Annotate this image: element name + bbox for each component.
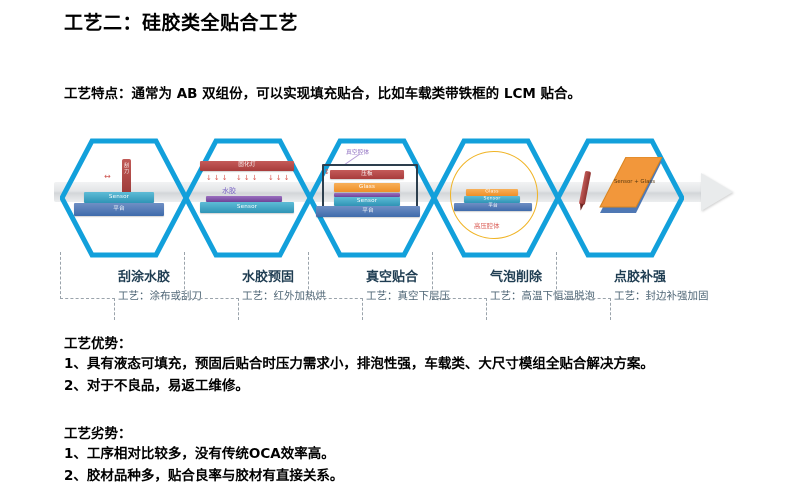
step-5-name: 点胶补强 xyxy=(614,266,666,285)
process-hexagon-1[interactable]: 刮刀 ↔ Sensor 平台 xyxy=(60,137,188,259)
layer-platform-label: 平台 xyxy=(74,207,164,213)
process-hexagon-3[interactable]: 真空腔体 压板 ↕ Glass Sensor 平台 xyxy=(308,137,436,259)
advantages-item-1: 1、具有液态可填充，预固后贴合时压力需求小，排泡性强，车载类、大尺寸模组全贴合解… xyxy=(64,355,654,375)
step-2-name: 水胶预固 xyxy=(242,266,294,285)
layer-platform: 平台 xyxy=(316,206,420,217)
layer-platform-label: 平台 xyxy=(454,205,532,210)
process-hexagon-2[interactable]: 固化灯 ↓↓↓ ↓↓↓ ↓↓↓ 水胶 Sensor xyxy=(184,137,312,259)
layer-platform: 平台 xyxy=(454,203,532,211)
step-1-name: 刮涂水胶 xyxy=(118,266,170,285)
step-bracket-stem xyxy=(114,298,115,320)
disadvantages-item-2: 2、胶材品种多，贴合良率与胶材有直接关系。 xyxy=(64,467,343,487)
hexagon-2-scene: 固化灯 ↓↓↓ ↓↓↓ ↓↓↓ 水胶 Sensor xyxy=(184,137,312,259)
scraper-tool-label: 刮刀 xyxy=(123,163,130,175)
process-step-2[interactable]: 水胶预固 工艺：红外加热烘 xyxy=(184,252,320,320)
layer-sensor-label: Sensor xyxy=(464,197,520,202)
step-5-sub: 工艺：封边补强加固 xyxy=(614,288,709,303)
step-bracket xyxy=(60,252,115,299)
layer-press-plate-label: 压板 xyxy=(330,172,404,178)
step-3-name: 真空贴合 xyxy=(366,266,418,285)
layer-sensor: Sensor xyxy=(200,202,294,213)
advantages-item-2: 2、对于不良品，易返工维修。 xyxy=(64,377,654,397)
high-pressure-chamber-annotation: 高压腔体 xyxy=(474,221,500,230)
hexagon-4-scene: Glass Sensor 平台 高压腔体 xyxy=(432,137,560,259)
motion-arrow-horizontal-icon: ↔ xyxy=(104,173,111,181)
process-step-3[interactable]: 真空贴合 工艺：真空下层压 xyxy=(308,252,444,320)
disadvantages-block: 工艺劣势： 1、工序相对比较多，没有传统OCA效率高。 2、胶材品种多，贴合良率… xyxy=(64,422,343,488)
layer-glass-label: Glass xyxy=(466,190,518,195)
layer-sensor-label: Sensor xyxy=(334,199,400,205)
layer-sensor: Sensor xyxy=(334,197,400,206)
advantages-heading: 工艺优势： xyxy=(64,332,654,352)
process-feature-line: 工艺特点：通常为 AB 双组份，可以实现填充贴合，比如车载类带铁框的 LCM 贴… xyxy=(64,82,581,102)
disadvantages-heading: 工艺劣势： xyxy=(64,422,343,442)
hexagon-5-scene: Sensor + Glass xyxy=(556,137,684,259)
step-bracket xyxy=(432,252,487,299)
layer-glass: Glass xyxy=(334,183,400,192)
ir-rays-icon-2: ↓↓↓ xyxy=(236,174,260,182)
hexagon-1-scene: 刮刀 ↔ Sensor 平台 xyxy=(60,137,188,259)
layer-press-plate: 压板 xyxy=(330,170,404,179)
process-hexagon-4[interactable]: Glass Sensor 平台 高压腔体 xyxy=(432,137,560,259)
layer-glass: Glass xyxy=(466,189,518,196)
layer-sensor-label: Sensor xyxy=(200,205,294,211)
step-bracket-stem xyxy=(238,298,239,320)
hexagon-3-scene: 真空腔体 压板 ↕ Glass Sensor 平台 xyxy=(308,137,436,259)
motion-arrow-vertical-icon: ↕ xyxy=(324,168,330,176)
step-bracket xyxy=(308,252,363,299)
layer-sensor: Sensor xyxy=(464,196,520,203)
step-bracket-stem xyxy=(362,298,363,320)
layer-sensor: Sensor xyxy=(84,192,154,203)
process-step-labels: 刮涂水胶 工艺：涂布或刮刀 水胶预固 工艺：红外加热烘 真空贴合 工艺：真空下层… xyxy=(46,252,746,324)
process-step-4[interactable]: 气泡削除 工艺：高温下恒温脱泡 xyxy=(432,252,568,320)
process-step-5[interactable]: 点胶补强 工艺：封边补强加固 xyxy=(556,252,692,320)
process-step-1[interactable]: 刮涂水胶 工艺：涂布或刮刀 xyxy=(60,252,196,320)
disadvantages-item-1: 1、工序相对比较多，没有传统OCA效率高。 xyxy=(64,445,343,465)
step-bracket xyxy=(556,252,611,299)
glue-annotation: 水胶 xyxy=(222,186,236,196)
layer-sensor-label: Sensor xyxy=(84,195,154,201)
flow-arrow-right-icon xyxy=(701,173,733,211)
step-bracket xyxy=(184,252,239,299)
layer-platform-label: 平台 xyxy=(316,209,420,215)
page-title: 工艺二：硅胶类全贴合工艺 xyxy=(64,8,298,35)
curing-lamp: 固化灯 xyxy=(200,161,294,171)
step-bracket-stem xyxy=(486,298,487,320)
step-bracket-stem xyxy=(610,298,611,320)
step-4-name: 气泡削除 xyxy=(490,266,542,285)
ir-rays-icon: ↓↓↓ xyxy=(206,174,230,182)
panel-label: Sensor + Glass xyxy=(614,179,655,185)
advantages-block: 工艺优势： 1、具有液态可填充，预固后贴合时压力需求小，排泡性强，车载类、大尺寸… xyxy=(64,332,654,398)
process-hexagon-5[interactable]: Sensor + Glass xyxy=(556,137,684,259)
ir-rays-icon-3: ↓↓↓ xyxy=(268,174,292,182)
curing-lamp-label: 固化灯 xyxy=(200,163,294,169)
layer-glass-label: Glass xyxy=(334,185,400,191)
layer-platform: 平台 xyxy=(74,203,164,216)
scraper-tool-icon: 刮刀 xyxy=(122,159,131,193)
